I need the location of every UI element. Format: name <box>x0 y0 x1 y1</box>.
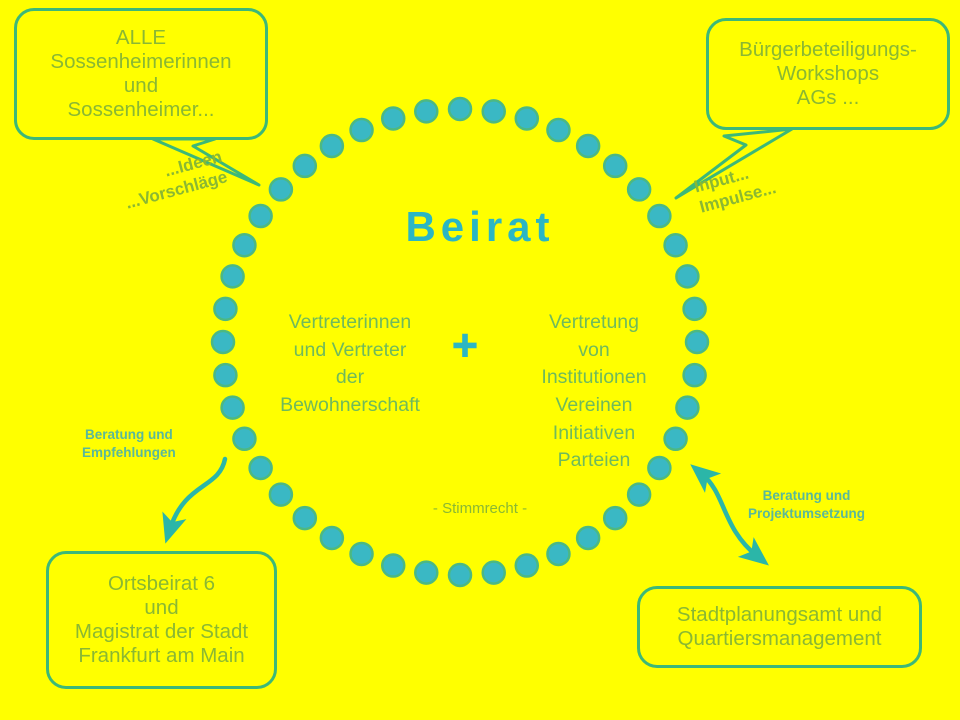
bubble-line: Sossenheimerinnen <box>50 50 231 74</box>
speech-bubble-workshops[interactable]: Bürgerbeteiligungs- Workshops AGs ... <box>706 18 950 130</box>
bubble-line: AGs ... <box>797 86 860 110</box>
bubble-line: Workshops <box>777 62 879 86</box>
circle-dot <box>676 265 698 287</box>
circle-dot <box>294 155 316 177</box>
box-stadtplanungsamt[interactable]: Stadtplanungsamt und Quartiersmanagement <box>637 586 922 668</box>
circle-dot <box>212 331 234 353</box>
circle-dot <box>321 527 343 549</box>
arrow-label-line: Projektumsetzung <box>748 505 865 523</box>
circle-dot <box>516 555 538 577</box>
circle-dot <box>684 298 706 320</box>
page-title: Beirat <box>0 203 960 251</box>
column-line: Bewohnerschaft <box>262 392 438 420</box>
circle-dot <box>449 564 471 586</box>
bubble-line: Bürgerbeteiligungs- <box>739 38 917 62</box>
column-line: Institutionen <box>506 364 682 392</box>
circle-dot <box>449 98 471 120</box>
column-line: und Vertreter <box>262 337 438 365</box>
speech-bubble-alle[interactable]: ALLE Sossenheimerinnen und Sossenheimer.… <box>14 8 268 140</box>
column-vertreterinnen: Vertreterinnen und Vertreter der Bewohne… <box>262 309 438 420</box>
circle-dot <box>686 331 708 353</box>
column-line: Parteien <box>506 447 682 475</box>
circle-dot <box>233 428 255 450</box>
arrow-beratung-empfehlungen <box>170 459 225 529</box>
circle-dot <box>351 119 373 141</box>
box-line: Quartiersmanagement <box>678 627 882 651</box>
label-beratung-projektumsetzung: Beratung und Projektumsetzung <box>748 487 865 523</box>
circle-dot <box>270 178 292 200</box>
circle-dot <box>547 543 569 565</box>
circle-dot <box>516 107 538 129</box>
circle-dot <box>382 555 404 577</box>
column-line: der <box>262 364 438 392</box>
circle-dot <box>577 527 599 549</box>
circle-dot <box>684 364 706 386</box>
circle-dot <box>547 119 569 141</box>
column-line: Vertretung <box>506 309 682 337</box>
circle-dot <box>604 155 626 177</box>
box-line: und <box>144 596 178 620</box>
bubble-line: ALLE <box>116 26 166 50</box>
column-line: von <box>506 337 682 365</box>
circle-dot <box>382 107 404 129</box>
circle-dot <box>222 265 244 287</box>
label-beratung-empfehlungen: Beratung und Empfehlungen <box>82 426 176 462</box>
box-line: Magistrat der Stadt <box>75 620 248 644</box>
box-line: Stadtplanungsamt und <box>677 603 882 627</box>
circle-dot <box>415 100 437 122</box>
column-vertretung-institutionen: Vertretung von Institutionen Vereinen In… <box>506 309 682 475</box>
bubble-line: Sossenheimer... <box>68 98 215 122</box>
diagram-canvas: Beirat Vertreterinnen und Vertreter der … <box>0 0 960 720</box>
bubble-line: und <box>124 74 158 98</box>
circle-dot <box>628 178 650 200</box>
column-line: Vertreterinnen <box>262 309 438 337</box>
circle-dot <box>577 135 599 157</box>
circle-dot <box>222 397 244 419</box>
arrow-label-line: Beratung und <box>82 426 176 444</box>
column-line: Initiativen <box>506 420 682 448</box>
column-line: Vereinen <box>506 392 682 420</box>
box-ortsbeirat[interactable]: Ortsbeirat 6 und Magistrat der Stadt Fra… <box>46 551 277 689</box>
circle-dot <box>483 562 505 584</box>
circle-dot <box>214 298 236 320</box>
arrow-label-line: Empfehlungen <box>82 444 176 462</box>
arrow-label-line: Beratung und <box>748 487 865 505</box>
circle-dot <box>321 135 343 157</box>
circle-dot <box>415 562 437 584</box>
circle-dot <box>483 100 505 122</box>
plus-icon <box>452 333 478 359</box>
box-line: Ortsbeirat 6 <box>108 572 215 596</box>
circle-dot <box>351 543 373 565</box>
box-line: Frankfurt am Main <box>78 644 244 668</box>
circle-dot <box>214 364 236 386</box>
